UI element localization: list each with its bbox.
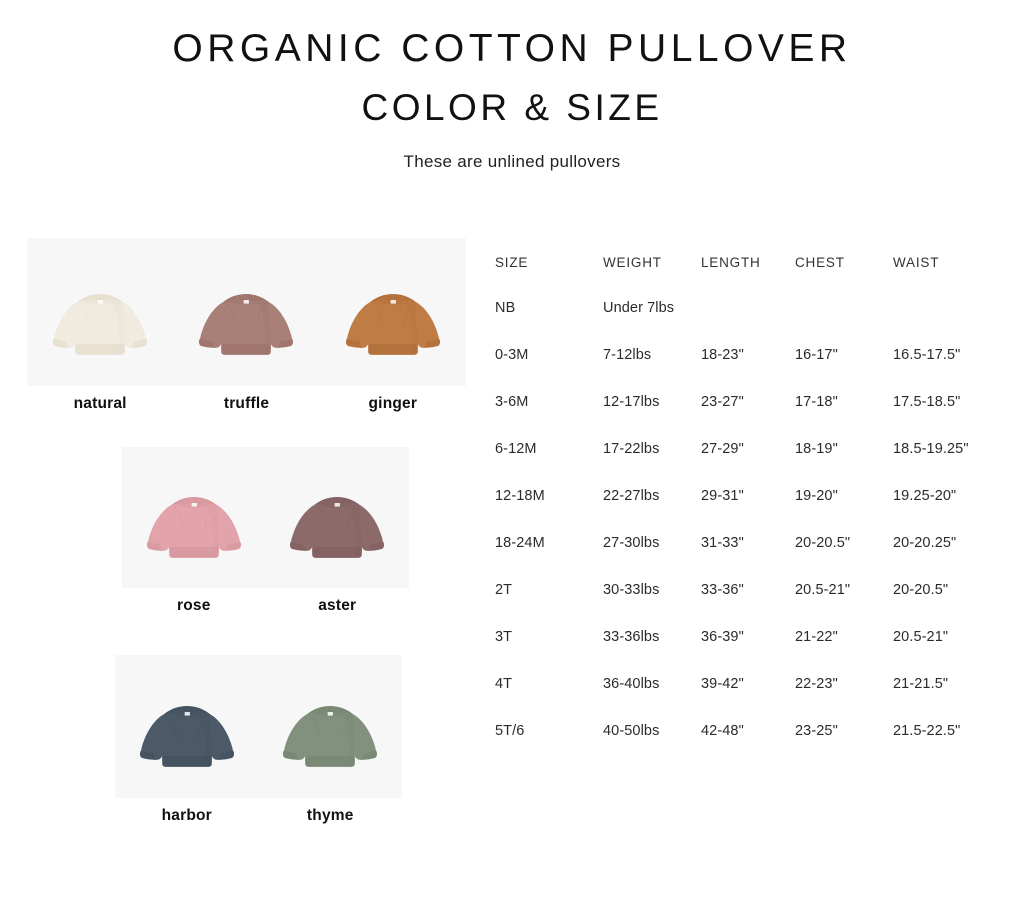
waist-cell xyxy=(893,300,1015,347)
column-header-weight: WEIGHT xyxy=(603,255,701,300)
table-header-row: SIZE WEIGHT LENGTH CHEST WAIST xyxy=(495,255,1015,300)
waist-cell: 20-20.25" xyxy=(893,535,1015,582)
column-header-size: SIZE xyxy=(495,255,603,300)
length-cell: 36-39" xyxy=(701,629,795,676)
sweater-illustration xyxy=(271,678,389,798)
weight-cell: 30-33lbs xyxy=(603,582,701,629)
color-label-ginger: ginger xyxy=(320,395,466,413)
length-cell xyxy=(701,300,795,347)
color-swatch-harbor[interactable] xyxy=(128,678,246,798)
length-cell: 27-29" xyxy=(701,441,795,488)
chest-cell: 20-20.5" xyxy=(795,535,893,582)
weight-cell: 36-40lbs xyxy=(603,676,701,723)
color-label-natural: natural xyxy=(27,395,173,413)
color-label-rose: rose xyxy=(122,597,265,615)
weight-cell: 17-22lbs xyxy=(603,441,701,488)
color-row-2: rose aster xyxy=(122,447,409,615)
table-row: 6-12M17-22lbs27-29"18-19"18.5-19.25" xyxy=(495,441,1015,488)
waist-cell: 20-20.5" xyxy=(893,582,1015,629)
waist-cell: 19.25-20" xyxy=(893,488,1015,535)
color-label-aster: aster xyxy=(266,597,409,615)
waist-cell: 20.5-21" xyxy=(893,629,1015,676)
color-swatch-ginger[interactable] xyxy=(334,266,452,386)
weight-cell: 33-36lbs xyxy=(603,629,701,676)
sweater-illustration xyxy=(41,266,159,386)
size-chart-body: NBUnder 7lbs0-3M7-12lbs18-23"16-17"16.5-… xyxy=(495,300,1015,770)
waist-cell: 17.5-18.5" xyxy=(893,394,1015,441)
table-row: 12-18M22-27lbs29-31"19-20"19.25-20" xyxy=(495,488,1015,535)
length-cell: 18-23" xyxy=(701,347,795,394)
chest-cell: 19-20" xyxy=(795,488,893,535)
table-row: 4T36-40lbs39-42"22-23"21-21.5" xyxy=(495,676,1015,723)
sweater-illustration xyxy=(135,470,253,588)
color-swatch-thyme[interactable] xyxy=(271,678,389,798)
color-swatch-natural[interactable] xyxy=(41,266,159,386)
size-cell: 2T xyxy=(495,582,603,629)
column-header-chest: CHEST xyxy=(795,255,893,300)
length-cell: 33-36" xyxy=(701,582,795,629)
color-labels-row-3: harbor thyme xyxy=(115,807,402,825)
weight-cell: 40-50lbs xyxy=(603,723,701,770)
size-cell: 6-12M xyxy=(495,441,603,488)
table-row: 3-6M12-17lbs23-27"17-18"17.5-18.5" xyxy=(495,394,1015,441)
size-chart-table: SIZE WEIGHT LENGTH CHEST WAIST NBUnder 7… xyxy=(495,255,1015,770)
sweater-illustration xyxy=(334,266,452,386)
weight-cell: 27-30lbs xyxy=(603,535,701,582)
length-cell: 39-42" xyxy=(701,676,795,723)
chest-cell xyxy=(795,300,893,347)
table-row: NBUnder 7lbs xyxy=(495,300,1015,347)
table-row: 0-3M7-12lbs18-23"16-17"16.5-17.5" xyxy=(495,347,1015,394)
weight-cell: 22-27lbs xyxy=(603,488,701,535)
size-cell: 3-6M xyxy=(495,394,603,441)
table-row: 3T33-36lbs36-39"21-22"20.5-21" xyxy=(495,629,1015,676)
color-swatch-aster[interactable] xyxy=(278,470,396,588)
size-cell: 18-24M xyxy=(495,535,603,582)
chest-cell: 16-17" xyxy=(795,347,893,394)
length-cell: 31-33" xyxy=(701,535,795,582)
waist-cell: 16.5-17.5" xyxy=(893,347,1015,394)
color-label-truffle: truffle xyxy=(173,395,319,413)
waist-cell: 21-21.5" xyxy=(893,676,1015,723)
sweater-illustration xyxy=(278,470,396,588)
color-row-1: natural truffle ginger xyxy=(27,238,466,413)
length-cell: 23-27" xyxy=(701,394,795,441)
sweater-illustration xyxy=(187,266,305,386)
waist-cell: 18.5-19.25" xyxy=(893,441,1015,488)
color-swatch-truffle[interactable] xyxy=(187,266,305,386)
color-labels-row-1: natural truffle ginger xyxy=(27,395,466,413)
color-labels-row-2: rose aster xyxy=(122,597,409,615)
color-row-3: harbor thyme xyxy=(115,655,402,825)
waist-cell: 21.5-22.5" xyxy=(893,723,1015,770)
color-label-harbor: harbor xyxy=(115,807,258,825)
chest-cell: 21-22" xyxy=(795,629,893,676)
size-cell: 4T xyxy=(495,676,603,723)
color-label-thyme: thyme xyxy=(259,807,402,825)
color-panel-3 xyxy=(115,655,402,798)
weight-cell: 7-12lbs xyxy=(603,347,701,394)
chest-cell: 22-23" xyxy=(795,676,893,723)
length-cell: 42-48" xyxy=(701,723,795,770)
page-subtitle: COLOR & SIZE xyxy=(0,86,1024,130)
sweater-illustration xyxy=(128,678,246,798)
weight-cell: 12-17lbs xyxy=(603,394,701,441)
size-cell: 3T xyxy=(495,629,603,676)
chest-cell: 23-25" xyxy=(795,723,893,770)
chest-cell: 17-18" xyxy=(795,394,893,441)
size-cell: 5T/6 xyxy=(495,723,603,770)
table-row: 18-24M27-30lbs31-33"20-20.5"20-20.25" xyxy=(495,535,1015,582)
weight-cell: Under 7lbs xyxy=(603,300,701,347)
page-note: These are unlined pullovers xyxy=(0,152,1024,172)
page-title: ORGANIC COTTON PULLOVER xyxy=(0,26,1024,72)
length-cell: 29-31" xyxy=(701,488,795,535)
size-cell: NB xyxy=(495,300,603,347)
size-chart-section: SIZE WEIGHT LENGTH CHEST WAIST NBUnder 7… xyxy=(495,255,1015,770)
column-header-waist: WAIST xyxy=(893,255,1015,300)
size-cell: 0-3M xyxy=(495,347,603,394)
column-header-length: LENGTH xyxy=(701,255,795,300)
table-row: 5T/640-50lbs42-48"23-25"21.5-22.5" xyxy=(495,723,1015,770)
size-cell: 12-18M xyxy=(495,488,603,535)
table-row: 2T30-33lbs33-36"20.5-21"20-20.5" xyxy=(495,582,1015,629)
color-panel-1 xyxy=(27,238,466,386)
page-header: ORGANIC COTTON PULLOVER COLOR & SIZE The… xyxy=(0,0,1024,172)
color-panel-2 xyxy=(122,447,409,588)
chest-cell: 20.5-21" xyxy=(795,582,893,629)
color-swatch-rose[interactable] xyxy=(135,470,253,588)
chest-cell: 18-19" xyxy=(795,441,893,488)
